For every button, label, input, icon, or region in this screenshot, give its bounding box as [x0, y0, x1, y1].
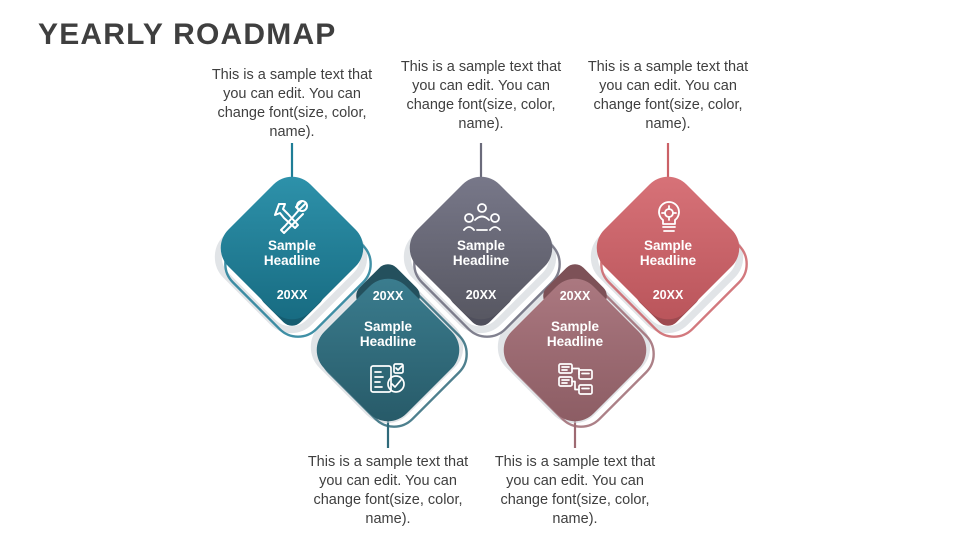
node-2-description: This is a sample text that you can edit.… — [303, 453, 473, 529]
node-1-description: This is a sample text that you can edit.… — [207, 66, 377, 142]
node-3-description: This is a sample text that you can edit.… — [396, 58, 566, 134]
node-4-description: This is a sample text that you can edit.… — [490, 453, 660, 529]
slide-canvas: YEARLY ROADMAP — [0, 0, 960, 540]
node-5-description: This is a sample text that you can edit.… — [583, 58, 753, 134]
